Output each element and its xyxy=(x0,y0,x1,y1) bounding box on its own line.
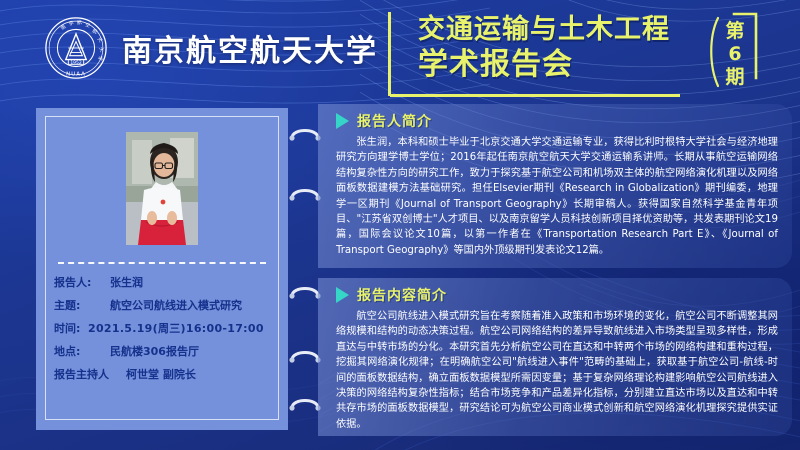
issue-char-qi: 期 xyxy=(718,66,752,89)
event-title: 交通运输与土木工程 学术报告会 xyxy=(418,12,686,86)
card-divider xyxy=(58,262,266,264)
poster-root: 1952 NUAA 南 京 航 空 航 天 大 学 南京航空航天大学 交通运输与… xyxy=(0,0,800,450)
speaker-info-card: 报告人: 张生润 主题: 航空公司航线进入模式研究 时间: 2021.5.19(… xyxy=(36,108,288,430)
detail-value-venue: 民航楼306报告厅 xyxy=(110,343,274,359)
binder-ring-icon xyxy=(288,396,322,412)
play-triangle-icon xyxy=(336,113,349,129)
detail-label-speaker: 报告人: xyxy=(54,274,110,290)
detail-value-host: 柯世堂 副院长 xyxy=(126,366,274,382)
speaker-portrait xyxy=(126,132,198,245)
issue-number-text: 第 6 期 xyxy=(718,20,752,89)
detail-label-host: 报告主持人 xyxy=(54,366,126,382)
issue-badge: 第 6 期 xyxy=(704,8,782,92)
issue-char-di: 第 xyxy=(718,20,752,43)
event-title-line1: 交通运输与土木工程 xyxy=(418,12,686,47)
svg-text:航: 航 xyxy=(77,19,83,27)
poster-header: 1952 NUAA 南 京 航 空 航 天 大 学 南京航空航天大学 交通运输与… xyxy=(0,0,800,96)
detail-label-time: 时间: xyxy=(54,320,88,336)
binder-ring-icon xyxy=(288,186,322,202)
detail-label-topic: 主题: xyxy=(54,297,110,313)
detail-value-topic: 航空公司航线进入模式研究 xyxy=(110,297,274,313)
detail-row-host: 报告主持人 柯世堂 副院长 xyxy=(54,366,274,382)
section-speaker-bio: 报告人简介 张生润，本科和硕士毕业于北京交通大学交通运输专业，获得比利时根特大学… xyxy=(318,104,792,268)
section-title-bio: 报告人简介 xyxy=(357,111,432,131)
detail-row-time: 时间: 2021.5.19(周三)16:00-17:00 xyxy=(54,320,274,336)
play-triangle-icon xyxy=(336,287,349,303)
section-body-abstract: 航空公司航线进入模式研究旨在考察随着准入政策和市场环境的变化，航空公司不断调整其… xyxy=(318,307,792,432)
section-header-bio: 报告人简介 xyxy=(318,104,792,133)
event-title-line2: 学术报告会 xyxy=(418,47,686,82)
detail-value-time: 2021.5.19(周三)16:00-17:00 xyxy=(88,320,274,336)
binder-ring-icon xyxy=(288,126,322,142)
svg-text:1952: 1952 xyxy=(70,60,82,66)
university-name: 南京航空航天大学 xyxy=(122,26,378,70)
section-title-abstract: 报告内容简介 xyxy=(357,285,447,305)
section-body-bio: 张生润，本科和硕士毕业于北京交通大学交通运输专业，获得比利时根特大学社会与经济地… xyxy=(318,133,792,258)
issue-char-number: 6 xyxy=(718,43,752,66)
spiral-binding xyxy=(288,108,322,430)
binder-ring-icon xyxy=(288,348,322,364)
detail-row-topic: 主题: 航空公司航线进入模式研究 xyxy=(54,297,274,313)
svg-text:大: 大 xyxy=(97,46,105,53)
svg-text:京: 京 xyxy=(67,19,75,27)
detail-value-speaker: 张生润 xyxy=(110,274,274,290)
section-header-abstract: 报告内容简介 xyxy=(318,278,792,307)
detail-label-venue: 地点: xyxy=(54,343,110,359)
title-accent-bar xyxy=(388,12,391,96)
svg-text:NUAA: NUAA xyxy=(66,72,86,78)
title-underline xyxy=(390,94,680,97)
university-branding: 1952 NUAA 南 京 航 空 航 天 大 学 南京航空航天大学 xyxy=(44,16,378,80)
speaker-detail-list: 报告人: 张生润 主题: 航空公司航线进入模式研究 时间: 2021.5.19(… xyxy=(54,274,274,389)
binder-ring-icon xyxy=(288,284,322,300)
detail-row-speaker: 报告人: 张生润 xyxy=(54,274,274,290)
detail-row-venue: 地点: 民航楼306报告厅 xyxy=(54,343,274,359)
portrait-photo xyxy=(126,132,198,245)
nuaa-seal-icon: 1952 NUAA 南 京 航 空 航 天 大 学 xyxy=(44,16,108,80)
section-abstract: 报告内容简介 航空公司航线进入模式研究旨在考察随着准入政策和市场环境的变化，航空… xyxy=(318,278,792,436)
svg-text:航: 航 xyxy=(91,27,99,36)
